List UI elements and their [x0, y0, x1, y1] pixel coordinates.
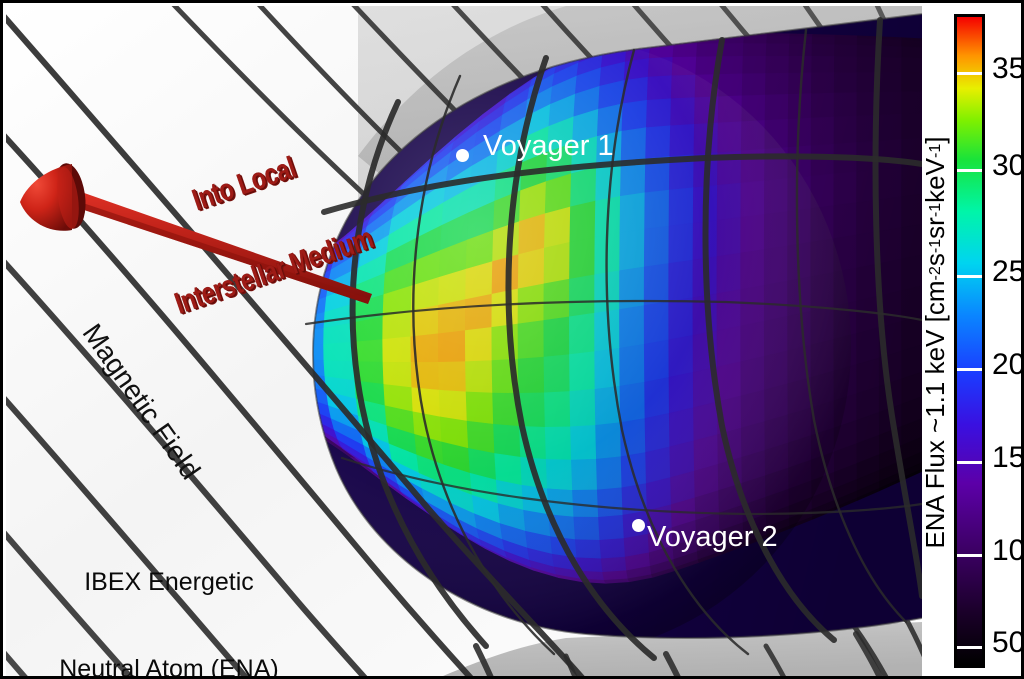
figure-root: Into Local Interstellar Medium Magnetic …	[0, 0, 1024, 679]
cb-label-mid-1: s	[920, 253, 951, 266]
cb-label-suffix: ]	[920, 136, 951, 143]
cb-exp-3: -1	[926, 203, 945, 217]
colorbar-tick-250	[957, 275, 982, 278]
colorbar-tick-label-350: 350	[992, 52, 1024, 86]
colorbar-tick-300	[957, 169, 982, 172]
cb-exp-4: -1	[926, 144, 945, 158]
colorbar-tick-100	[957, 554, 982, 557]
colorbar-tick-label-200: 200	[992, 348, 1024, 382]
colorbar: ENA Flux ~1.1 keV [cm-2 s-1 sr-1 keV-1] …	[922, 6, 1024, 679]
heliosphere-scene: Into Local Interstellar Medium Magnetic …	[6, 6, 922, 679]
cb-label-prefix: ENA Flux ~1.1 keV [cm	[920, 280, 951, 548]
colorbar-gradient	[957, 17, 982, 665]
colorbar-axis-label: ENA Flux ~1.1 keV [cm-2 s-1 sr-1 keV-1]	[920, 6, 950, 679]
cb-exp-2: -1	[926, 239, 945, 253]
colorbar-tick-label-150: 150	[992, 441, 1024, 475]
colorbar-tick-label-300: 300	[992, 149, 1024, 183]
colorbar-gradient-bar	[954, 14, 985, 668]
colorbar-tick-50	[957, 646, 982, 649]
cb-exp-1: -2	[926, 266, 945, 280]
colorbar-tick-350	[957, 72, 982, 75]
colorbar-tick-200	[957, 368, 982, 371]
colorbar-tick-150	[957, 461, 982, 464]
colorbar-tick-label-100: 100	[992, 534, 1024, 568]
heliosphere-render	[6, 6, 922, 679]
cb-label-mid-2: sr	[920, 217, 951, 239]
cb-label-mid-3: keV	[920, 158, 951, 203]
colorbar-tick-label-50: 50	[992, 626, 1024, 660]
colorbar-tick-label-250: 250	[992, 255, 1024, 289]
